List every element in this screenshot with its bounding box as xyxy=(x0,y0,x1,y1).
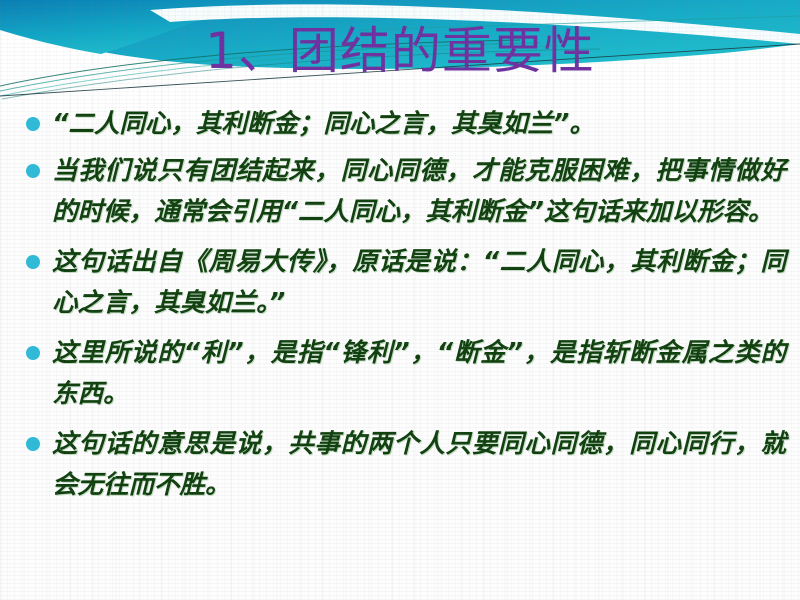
bullet-dot-icon xyxy=(26,437,40,451)
list-item-text: 当我们说只有团结起来，同心同德，才能克服困难，把事情做好的时候，通常会引用“二人… xyxy=(52,151,786,233)
bullet-dot-icon xyxy=(26,117,40,131)
bullet-dot-icon xyxy=(26,255,40,269)
list-item: “二人同心，其利断金；同心之言，其臭如兰”。 xyxy=(0,104,800,145)
bullet-dot-icon xyxy=(26,346,40,360)
list-item-text: “二人同心，其利断金；同心之言，其臭如兰”。 xyxy=(52,104,786,145)
list-item: 这句话出自《周易大传》，原话是说：“二人同心，其利断金；同心之言，其臭如兰。” xyxy=(0,242,800,324)
list-item-text: 这句话出自《周易大传》，原话是说：“二人同心，其利断金；同心之言，其臭如兰。” xyxy=(52,242,786,324)
page-title: 1、团结的重要性 xyxy=(0,22,800,80)
list-item: 这句话的意思是说，共事的两个人只要同心同德，同心同行，就会无往而不胜。 xyxy=(0,424,800,506)
list-item-text: 这句话的意思是说，共事的两个人只要同心同德，同心同行，就会无往而不胜。 xyxy=(52,424,786,506)
list-item: 当我们说只有团结起来，同心同德，才能克服困难，把事情做好的时候，通常会引用“二人… xyxy=(0,151,800,233)
bullet-list: “二人同心，其利断金；同心之言，其臭如兰”。 当我们说只有团结起来，同心同德，才… xyxy=(0,104,800,512)
list-item: 这里所说的“利”，是指“锋利”，“断金”，是指斩断金属之类的东西。 xyxy=(0,333,800,415)
presentation-slide: 1、团结的重要性 “二人同心，其利断金；同心之言，其臭如兰”。 当我们说只有团结… xyxy=(0,0,800,600)
list-item-text: 这里所说的“利”，是指“锋利”，“断金”，是指斩断金属之类的东西。 xyxy=(52,333,786,415)
bullet-dot-icon xyxy=(26,164,40,178)
